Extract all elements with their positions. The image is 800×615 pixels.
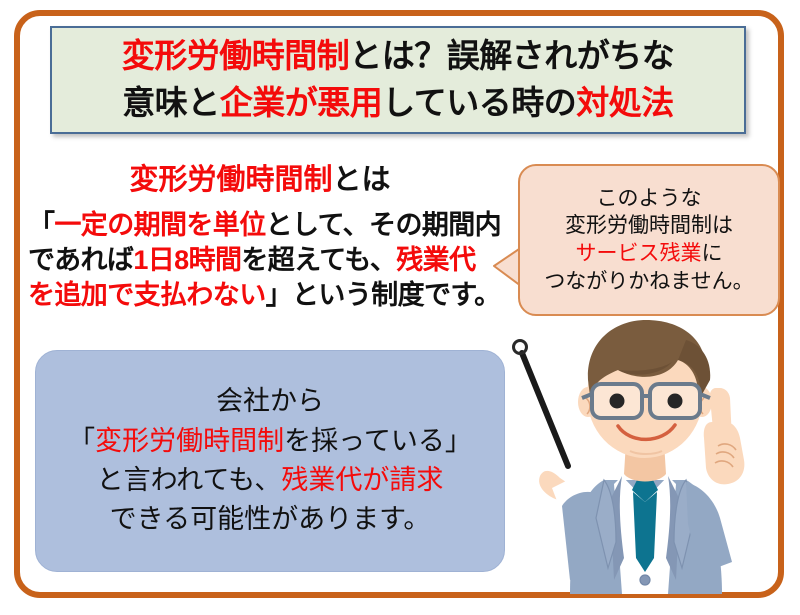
- subheading-red: 変形労働時間制: [129, 164, 332, 196]
- definition-line-2-black-a: であれば: [28, 245, 133, 275]
- definition-line-1-black: として、その期間内: [266, 210, 501, 240]
- businessman-illustration: [500, 318, 790, 600]
- bubble-line-3-black: に: [702, 242, 723, 265]
- title-line-2-black-b: している時の: [382, 84, 576, 121]
- bubble-line-1: このような: [597, 185, 702, 213]
- title-line-1-black: とは？誤解されがちな: [349, 37, 674, 74]
- bubble-line-4: つながりかねません。: [544, 268, 753, 296]
- blue-box-line-2-red: 変形労働時間制: [95, 426, 284, 456]
- title-line-1: 変形労働時間制とは？誤解されがちな: [122, 33, 675, 80]
- pointer-stick-icon: [514, 341, 569, 467]
- blue-box-line-3-black: と言われても、: [97, 465, 282, 495]
- title-line-2-red-b: 対処法: [576, 84, 674, 121]
- definition-line-1-red: 一定の期間を単位: [54, 210, 265, 240]
- subheading-black: とは: [333, 164, 391, 196]
- infographic-canvas: 変形労働時間制とは？誤解されがちな 意味と企業が悪用している時の対処法 変形労働…: [0, 0, 800, 615]
- definition-line-3-red: を追加で支払わない: [28, 280, 266, 310]
- bubble-line-2: 変形労働時間制は: [565, 212, 733, 240]
- bubble-line-3: サービス残業に: [576, 240, 723, 268]
- title-line-1-red: 変形労働時間制: [122, 37, 350, 74]
- definition-line-1: 「一定の期間を単位として、その期間内: [28, 208, 518, 243]
- definition-line-2-black-b: を超えても、: [241, 245, 396, 275]
- title-line-2-red-a: 企業が悪用: [220, 84, 383, 121]
- title-line-2-black-a: 意味と: [122, 84, 220, 121]
- definition-line-2: であれば1日8時間を超えても、残業代: [28, 243, 518, 278]
- definition-line-1-open-quote: 「: [28, 210, 54, 240]
- blue-box-line-2-black: を採っている」: [284, 426, 472, 456]
- speech-bubble: このような 変形労働時間制は サービス残業に つながりかねません。: [518, 164, 780, 316]
- bubble-line-3-red: サービス残業: [576, 242, 702, 265]
- definition-line-3-black: 」という制度です。: [266, 280, 501, 310]
- subheading: 変形労働時間制とは: [0, 156, 520, 198]
- advice-blue-box: 会社から 「変形労働時間制を採っている」 と言われても、残業代が請求 できる可能…: [35, 350, 505, 572]
- definition-paragraph: 「一定の期間を単位として、その期間内 であれば1日8時間を超えても、残業代 を追…: [28, 208, 518, 313]
- title-line-2: 意味と企業が悪用している時の対処法: [122, 80, 674, 127]
- definition-line-2-red-a: 1日8時間: [133, 245, 241, 275]
- blue-box-line-3: と言われても、残業代が請求: [97, 461, 444, 500]
- blue-box-line-3-red: 残業代が請求: [281, 465, 443, 495]
- blue-box-line-4: できる可能性があります。: [110, 500, 431, 539]
- blue-box-line-1: 会社から: [216, 382, 324, 421]
- blue-box-line-2-open-quote: 「: [68, 426, 95, 456]
- title-box: 変形労働時間制とは？誤解されがちな 意味と企業が悪用している時の対処法: [50, 26, 746, 134]
- blue-box-line-2: 「変形労働時間制を採っている」: [68, 422, 472, 461]
- definition-line-2-red-b: 残業代: [396, 245, 475, 275]
- definition-line-3: を追加で支払わない」という制度です。: [28, 278, 518, 313]
